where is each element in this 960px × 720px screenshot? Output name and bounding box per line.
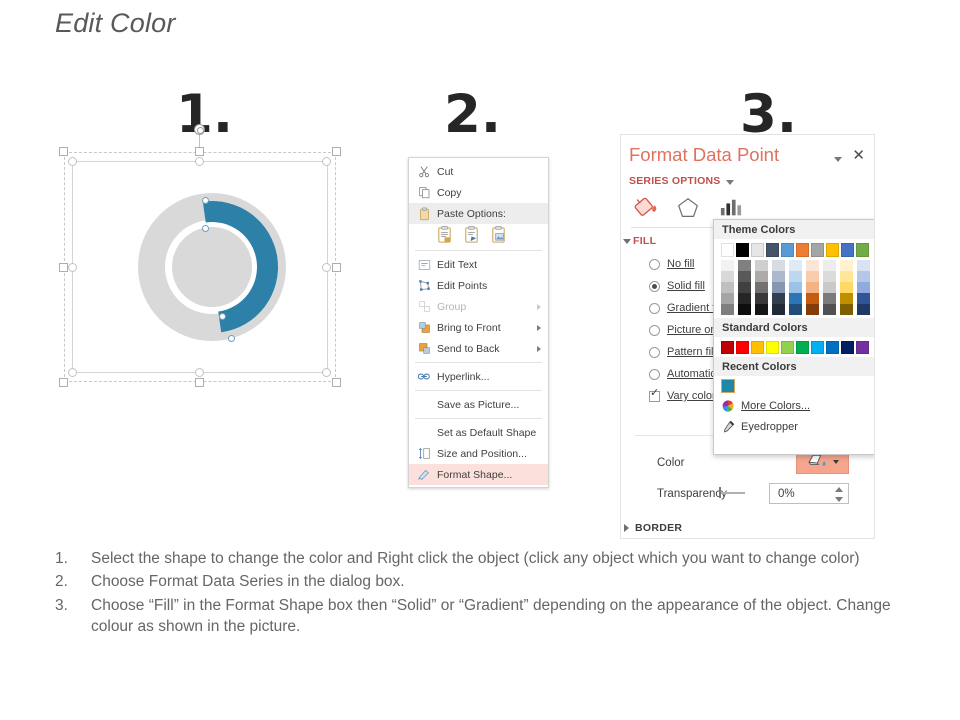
theme-shade-2-4[interactable] xyxy=(755,304,768,315)
theme-swatch-2[interactable] xyxy=(751,243,764,257)
inner-handle-nw[interactable] xyxy=(68,157,77,166)
close-icon[interactable]: ✕ xyxy=(852,148,865,163)
eyedropper-item[interactable]: Eyedropper xyxy=(714,416,875,437)
menu-item-cut[interactable]: Cut xyxy=(409,161,548,182)
recent-colors-header: Recent Colors xyxy=(714,357,875,376)
theme-shade-4-1[interactable] xyxy=(789,271,802,282)
theme-shade-7-3[interactable] xyxy=(840,293,853,304)
copy-icon xyxy=(413,185,435,201)
theme-shade-9-1[interactable] xyxy=(874,271,875,282)
menu-item-hyperlink[interactable]: Hyperlink... xyxy=(409,366,548,387)
spinner-up-icon[interactable] xyxy=(835,487,843,492)
fill-collapse-triangle-icon[interactable] xyxy=(623,239,631,244)
theme-shade-0-1[interactable] xyxy=(721,271,734,282)
standard-colors-header: Standard Colors xyxy=(714,318,875,337)
theme-shade-8-4[interactable] xyxy=(857,304,870,315)
theme-shade-6-4[interactable] xyxy=(823,304,836,315)
clipboard-icon xyxy=(413,206,435,222)
border-expand-triangle-icon[interactable] xyxy=(624,524,629,532)
theme-shade-8-3[interactable] xyxy=(857,293,870,304)
instruction-text: Choose “Fill” in the Format Shape box th… xyxy=(91,595,900,638)
arc-point-bottom-outer[interactable] xyxy=(228,335,235,342)
resize-handle-s[interactable] xyxy=(195,378,204,387)
inner-handle-n[interactable] xyxy=(195,157,204,166)
menu-item-label: Bring to Front xyxy=(435,322,501,334)
theme-shade-9-3[interactable] xyxy=(874,293,875,304)
resize-handle-ne[interactable] xyxy=(332,147,341,156)
theme-shade-3-0[interactable] xyxy=(772,260,785,271)
theme-shade-column-0[interactable] xyxy=(721,260,734,315)
instruction-item: 3. Choose “Fill” in the Format Shape box… xyxy=(55,595,900,638)
theme-shade-6-0[interactable] xyxy=(823,260,836,271)
color-dropdown-caret-icon[interactable] xyxy=(833,460,839,464)
theme-swatch-0[interactable] xyxy=(721,243,734,257)
transparency-value: 0% xyxy=(778,488,795,500)
standard-swatch-7[interactable] xyxy=(826,341,839,354)
theme-shade-7-4[interactable] xyxy=(840,304,853,315)
size-position-icon xyxy=(413,446,435,462)
theme-shade-column-2[interactable] xyxy=(755,260,768,315)
standard-swatch-1[interactable] xyxy=(736,341,749,354)
step-number-2: 2. xyxy=(444,88,501,141)
radio-icon[interactable] xyxy=(649,347,660,358)
theme-shade-2-1[interactable] xyxy=(755,271,768,282)
eyedropper-label: Eyedropper xyxy=(741,421,798,433)
format-shape-icon xyxy=(413,467,435,483)
theme-shade-1-3[interactable] xyxy=(738,293,751,304)
arc-point-top-outer[interactable] xyxy=(202,197,209,204)
instruction-number: 1. xyxy=(55,548,91,569)
submenu-arrow-icon xyxy=(537,325,541,331)
transparency-value-field[interactable]: 0% xyxy=(769,483,849,504)
theme-shade-8-1[interactable] xyxy=(857,271,870,282)
color-label: Color xyxy=(657,457,684,469)
radio-icon[interactable] xyxy=(649,259,660,270)
inner-handle-ne[interactable] xyxy=(322,157,331,166)
resize-handle-se[interactable] xyxy=(332,378,341,387)
menu-separator xyxy=(415,362,542,363)
theme-shade-8-2[interactable] xyxy=(857,282,870,293)
menu-separator xyxy=(415,250,542,251)
menu-item-label: Edit Points xyxy=(435,280,487,292)
page-title: Edit Color xyxy=(55,8,176,39)
transparency-label: Transparency xyxy=(657,488,727,500)
radio-icon[interactable] xyxy=(649,303,660,314)
theme-shade-1-4[interactable] xyxy=(738,304,751,315)
resize-handle-sw[interactable] xyxy=(59,378,68,387)
no-icon xyxy=(413,397,435,413)
hyperlink-icon xyxy=(413,369,435,385)
paste-picture-icon[interactable] xyxy=(489,225,508,244)
theme-shade-0-4[interactable] xyxy=(721,304,734,315)
border-section-header[interactable]: BORDER xyxy=(635,522,682,534)
instruction-number: 3. xyxy=(55,595,91,638)
theme-swatch-8[interactable] xyxy=(841,243,854,257)
standard-swatch-5[interactable] xyxy=(796,341,809,354)
theme-shade-0-2[interactable] xyxy=(721,282,734,293)
standard-swatch-2[interactable] xyxy=(751,341,764,354)
menu-item-format-shape[interactable]: Format Shape... xyxy=(409,464,548,485)
theme-shade-5-1[interactable] xyxy=(806,271,819,282)
theme-shade-column-5[interactable] xyxy=(806,260,819,315)
more-colors-label: More Colors... xyxy=(741,400,810,412)
theme-colors-top-row[interactable] xyxy=(721,243,875,257)
recent-swatch-0[interactable] xyxy=(721,379,735,393)
theme-shade-4-0[interactable] xyxy=(789,260,802,271)
theme-shade-8-0[interactable] xyxy=(857,260,870,271)
no-icon xyxy=(413,425,435,441)
context-menu[interactable]: Cut Copy Paste Options: Edit Text xyxy=(408,157,549,488)
theme-swatch-6[interactable] xyxy=(811,243,824,257)
theme-swatch-5[interactable] xyxy=(796,243,809,257)
menu-separator xyxy=(415,390,542,391)
instruction-text: Choose Format Data Series in the dialog … xyxy=(91,571,900,592)
theme-shade-1-1[interactable] xyxy=(738,271,751,282)
theme-shade-5-3[interactable] xyxy=(806,293,819,304)
fill-section-header[interactable]: FILL xyxy=(633,235,656,247)
standard-swatch-0[interactable] xyxy=(721,341,734,354)
menu-item-copy[interactable]: Copy xyxy=(409,182,548,203)
resize-handle-nw[interactable] xyxy=(59,147,68,156)
radio-icon[interactable] xyxy=(649,369,660,380)
menu-item-label: Size and Position... xyxy=(435,448,527,460)
instruction-item: 2. Choose Format Data Series in the dial… xyxy=(55,571,900,592)
theme-shade-9-2[interactable] xyxy=(874,282,875,293)
menu-item-paste-options[interactable]: Paste Options: xyxy=(409,203,548,224)
bring-front-icon xyxy=(413,320,435,336)
theme-swatch-1[interactable] xyxy=(736,243,749,257)
edit-text-icon xyxy=(413,257,435,273)
step-number-1: 1. xyxy=(176,88,233,141)
theme-shade-2-2[interactable] xyxy=(755,282,768,293)
resize-handle-n[interactable] xyxy=(195,147,204,156)
theme-shade-2-0[interactable] xyxy=(755,260,768,271)
theme-shade-7-0[interactable] xyxy=(840,260,853,271)
inner-handle-sw[interactable] xyxy=(68,368,77,377)
menu-item-size-and-position[interactable]: Size and Position... xyxy=(409,443,548,464)
donut-chart[interactable] xyxy=(130,185,320,375)
paint-bucket-icon xyxy=(807,453,829,471)
checkbox-icon[interactable] xyxy=(649,391,660,402)
theme-shade-6-3[interactable] xyxy=(823,293,836,304)
menu-item-label: Group xyxy=(435,301,466,313)
menu-item-label: Hyperlink... xyxy=(435,371,490,383)
spinner-down-icon[interactable] xyxy=(835,497,843,502)
series-options-label[interactable]: SERIES OPTIONS xyxy=(629,175,721,187)
resize-handle-e[interactable] xyxy=(332,263,341,272)
standard-colors-grid[interactable] xyxy=(714,337,875,357)
standard-swatch-8[interactable] xyxy=(841,341,854,354)
menu-separator xyxy=(415,418,542,419)
rotation-handle[interactable] xyxy=(194,124,205,135)
submenu-arrow-icon xyxy=(537,304,541,310)
standard-swatch-6[interactable] xyxy=(811,341,824,354)
group-icon xyxy=(413,299,435,315)
theme-shade-5-2[interactable] xyxy=(806,282,819,293)
theme-shade-column-6[interactable] xyxy=(823,260,836,315)
paste-options-row[interactable] xyxy=(409,224,548,247)
scissors-icon xyxy=(413,164,435,180)
standard-swatch-3[interactable] xyxy=(766,341,779,354)
submenu-arrow-icon xyxy=(537,346,541,352)
theme-shade-2-3[interactable] xyxy=(755,293,768,304)
menu-item-group: Group xyxy=(409,296,548,317)
theme-colors-shade-grid[interactable] xyxy=(721,260,875,315)
theme-shade-3-1[interactable] xyxy=(772,271,785,282)
theme-shade-column-3[interactable] xyxy=(772,260,785,315)
theme-shade-9-0[interactable] xyxy=(874,260,875,271)
standard-swatch-9[interactable] xyxy=(856,341,869,354)
theme-shade-column-7[interactable] xyxy=(840,260,853,315)
edit-points-icon xyxy=(413,278,435,294)
menu-item-label: Send to Back xyxy=(435,343,499,355)
theme-shade-3-3[interactable] xyxy=(772,293,785,304)
fill-option-label: Automatic xyxy=(667,368,716,380)
eyedropper-icon xyxy=(721,420,741,434)
theme-shade-3-4[interactable] xyxy=(772,304,785,315)
menu-item-bring-to-front[interactable]: Bring to Front xyxy=(409,317,548,338)
theme-shade-9-4[interactable] xyxy=(874,304,875,315)
theme-colors-header: Theme Colors xyxy=(714,220,875,239)
transparency-slider-track[interactable] xyxy=(721,492,745,494)
fill-paint-bucket-icon[interactable] xyxy=(633,193,663,226)
instruction-text: Select the shape to change the color and… xyxy=(91,548,900,569)
theme-shade-5-4[interactable] xyxy=(806,304,819,315)
standard-swatch-4[interactable] xyxy=(781,341,794,354)
menu-item-label: Set as Default Shape xyxy=(435,427,536,439)
arc-point-top-inner[interactable] xyxy=(202,225,209,232)
menu-item-edit-text[interactable]: Edit Text xyxy=(409,254,548,275)
fill-option-label: No fill xyxy=(667,258,695,270)
color-wheel-icon xyxy=(721,399,741,413)
theme-shade-4-2[interactable] xyxy=(789,282,802,293)
fill-option-label: Solid fill xyxy=(667,280,705,292)
recent-colors-row[interactable] xyxy=(721,379,875,393)
format-data-point-pane[interactable]: Format Data Point ✕ SERIES OPTIONS FILL … xyxy=(620,134,875,539)
theme-shade-column-1[interactable] xyxy=(738,260,751,315)
menu-item-label: Cut xyxy=(435,166,453,178)
menu-item-label: Edit Text xyxy=(435,259,477,271)
theme-shade-4-3[interactable] xyxy=(789,293,802,304)
theme-shade-column-8[interactable] xyxy=(857,260,870,315)
paste-merge-icon[interactable] xyxy=(462,225,481,244)
theme-shade-5-0[interactable] xyxy=(806,260,819,271)
pane-dropdown-caret-icon[interactable] xyxy=(834,157,842,162)
theme-shade-7-1[interactable] xyxy=(840,271,853,282)
theme-swatch-7[interactable] xyxy=(826,243,839,257)
theme-colors-grid[interactable] xyxy=(714,239,875,318)
menu-item-set-as-default-shape[interactable]: Set as Default Shape xyxy=(409,422,548,443)
donut-blue-arc[interactable] xyxy=(130,185,320,375)
inner-handle-se[interactable] xyxy=(322,368,331,377)
theme-shade-6-2[interactable] xyxy=(823,282,836,293)
menu-item-label: Paste Options: xyxy=(435,208,506,220)
inner-handle-e[interactable] xyxy=(322,263,331,272)
theme-shade-3-2[interactable] xyxy=(772,282,785,293)
theme-shade-1-2[interactable] xyxy=(738,282,751,293)
menu-item-edit-points[interactable]: Edit Points xyxy=(409,275,548,296)
inner-handle-w[interactable] xyxy=(68,263,77,272)
theme-swatch-4[interactable] xyxy=(781,243,794,257)
theme-shade-column-9[interactable] xyxy=(874,260,875,315)
menu-item-label: Format Shape... xyxy=(435,469,512,481)
theme-shade-0-3[interactable] xyxy=(721,293,734,304)
more-colors-item[interactable]: More Colors... xyxy=(714,395,875,416)
standard-colors-row[interactable] xyxy=(721,341,875,354)
fill-option-label: Pattern fill xyxy=(667,346,716,358)
menu-item-label: Copy xyxy=(435,187,462,199)
theme-shade-6-1[interactable] xyxy=(823,271,836,282)
spinner-arrows[interactable] xyxy=(835,487,843,502)
theme-shade-1-0[interactable] xyxy=(738,260,751,271)
theme-shade-column-4[interactable] xyxy=(789,260,802,315)
arc-point-bottom-inner[interactable] xyxy=(219,313,226,320)
send-back-icon xyxy=(413,341,435,357)
theme-shade-7-2[interactable] xyxy=(840,282,853,293)
instruction-item: 1. Select the shape to change the color … xyxy=(55,548,900,569)
radio-icon-selected[interactable] xyxy=(649,281,660,292)
theme-shade-4-4[interactable] xyxy=(789,304,802,315)
instructions-list: 1. Select the shape to change the color … xyxy=(55,548,900,640)
radio-icon[interactable] xyxy=(649,325,660,336)
recent-colors-grid[interactable] xyxy=(714,376,875,395)
instruction-number: 2. xyxy=(55,571,91,592)
paste-keep-formatting-icon[interactable] xyxy=(435,225,454,244)
color-picker-dropdown[interactable]: Theme Colors Standard Colors Recent Colo… xyxy=(713,219,875,455)
menu-item-label: Save as Picture... xyxy=(435,399,519,411)
theme-shade-0-0[interactable] xyxy=(721,260,734,271)
theme-swatch-3[interactable] xyxy=(766,243,779,257)
theme-swatch-9[interactable] xyxy=(856,243,869,257)
series-options-caret-icon[interactable] xyxy=(726,180,734,185)
menu-item-save-as-picture[interactable]: Save as Picture... xyxy=(409,394,548,415)
menu-item-send-to-back[interactable]: Send to Back xyxy=(409,338,548,359)
pane-title: Format Data Point xyxy=(629,144,779,166)
effects-pentagon-icon[interactable] xyxy=(675,195,701,224)
resize-handle-w[interactable] xyxy=(59,263,68,272)
